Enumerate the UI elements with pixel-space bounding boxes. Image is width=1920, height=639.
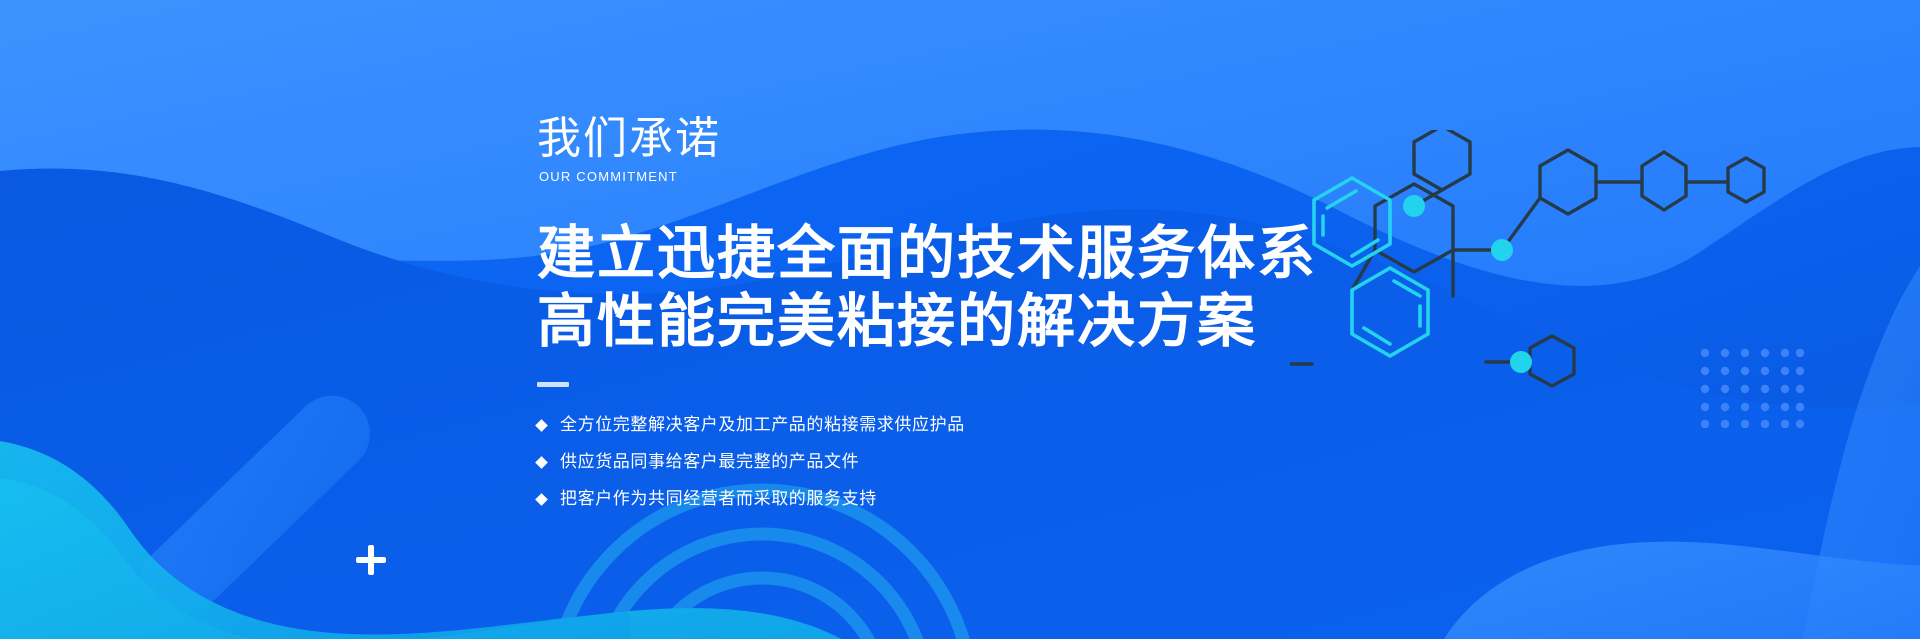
hexagon-chain-3 [1728,158,1764,202]
list-item: 供应货品同事给客户最完整的产品文件 [537,447,1297,477]
banner-content: 我们承诺 OUR COMMITMENT 建立迅捷全面的技术服务体系 高性能完美粘… [537,112,1297,521]
eyebrow-title-cn: 我们承诺 [537,112,1297,166]
list-item-label: 供应货品同事给客户最完整的产品文件 [560,447,859,477]
divider-rule [537,382,569,387]
list-item-label: 把客户作为共同经营者而采取的服务支持 [560,484,877,514]
dot-grid-pattern [1700,348,1805,428]
list-item: 把客户作为共同经营者而采取的服务支持 [537,484,1297,514]
list-item-label: 全方位完整解决客户及加工产品的粘接需求供应护品 [560,410,965,440]
shape-top-right-pale [1500,0,1920,140]
eyebrow-title-en: OUR COMMITMENT [539,168,1297,186]
diamond-bullet-icon [535,493,548,506]
hexagon-cyan-upper [1314,178,1390,266]
hexagon-chain-2 [1642,152,1686,210]
diamond-bullet-icon [535,456,548,469]
shape-bottom-left-cyan-2 [0,438,630,639]
double-bond-l3 [1364,328,1390,344]
headline-line-1: 建立迅捷全面的技术服务体系 [537,220,1297,288]
headline-line-2: 高性能完美粘接的解决方案 [537,288,1297,356]
shape-capsule [124,380,385,636]
shape-bottom-right-light [1420,542,1920,639]
shape-right-wedge [1790,190,1920,639]
double-bond-u1 [1327,191,1356,208]
list-item: 全方位完整解决客户及加工产品的粘接需求供应护品 [537,410,1297,440]
node-cyan-2 [1491,239,1513,261]
node-cyan-3 [1510,351,1532,373]
hexagon-bottom-right [1530,336,1574,386]
node-cyan-1 [1403,195,1425,217]
headline: 建立迅捷全面的技术服务体系 高性能完美粘接的解决方案 [537,220,1297,356]
molecule-hexagon-graphic [1290,130,1920,450]
hexagon-top-small [1414,130,1470,190]
diamond-bullet-icon [535,419,548,432]
hexagon-chain-1 [1540,150,1596,214]
plus-icon [356,545,386,575]
commitment-list: 全方位完整解决客户及加工产品的粘接需求供应护品 供应货品同事给客户最完整的产品文… [537,410,1297,514]
hexagon-cyan-lower [1352,268,1428,356]
hexagon-center-dark [1375,184,1453,272]
shape-top-left-pale [0,0,620,236]
bond-lower-left [1352,250,1375,290]
bond-top [1414,190,1442,206]
bond-chain-diag [1502,198,1540,250]
double-bond-l1 [1394,281,1420,296]
double-bond-u3 [1352,240,1378,256]
promotional-banner: 我们承诺 OUR COMMITMENT 建立迅捷全面的技术服务体系 高性能完美粘… [0,0,1920,639]
